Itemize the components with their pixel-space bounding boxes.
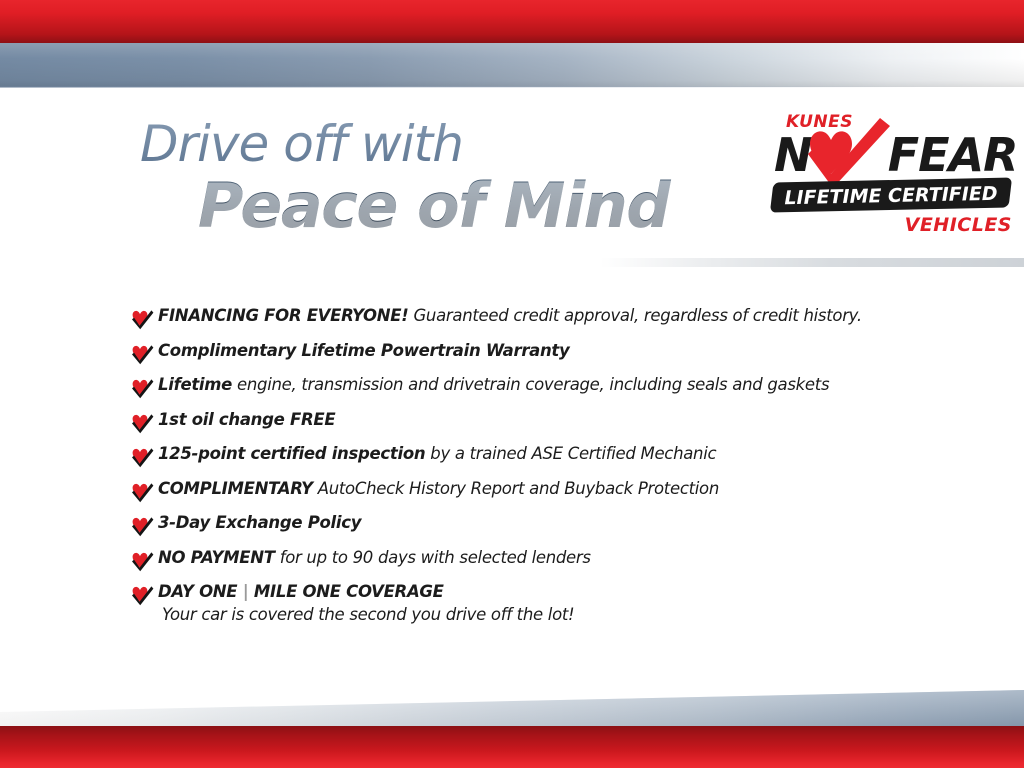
benefit-text-bold: DAY ONE xyxy=(158,582,237,601)
logo-word-fear: FEAR xyxy=(888,128,1018,182)
benefit-text: Lifetime engine, transmission and drivet… xyxy=(158,375,930,395)
benefit-item: COMPLIMENTARY AutoCheck History Report a… xyxy=(130,479,930,503)
heart-check-bullet-icon xyxy=(130,584,154,606)
benefit-text-normal: engine, transmission and drivetrain cove… xyxy=(232,375,829,394)
benefit-text-bold: NO PAYMENT xyxy=(158,548,275,567)
benefit-text-bold: 1st oil change FREE xyxy=(158,410,335,429)
heart-check-bullet-icon xyxy=(130,550,154,572)
headline-divider xyxy=(600,258,1024,267)
heart-check-icon xyxy=(800,116,892,190)
heart-check-bullet-icon xyxy=(130,343,154,365)
logo-vehicles-text: VEHICLES xyxy=(905,214,1012,236)
benefit-item: Complimentary Lifetime Powertrain Warran… xyxy=(130,341,930,365)
headline-line-2: Peace of Mind xyxy=(198,173,760,240)
benefit-text-bold: Complimentary Lifetime Powertrain Warran… xyxy=(158,341,569,360)
benefit-text-normal: AutoCheck History Report and Buyback Pro… xyxy=(313,479,719,498)
heart-check-bullet-icon xyxy=(130,377,154,399)
benefit-subtext: Your car is covered the second you drive… xyxy=(162,605,930,625)
benefit-text: FINANCING FOR EVERYONE! Guaranteed credi… xyxy=(158,306,930,326)
benefit-text: NO PAYMENT for up to 90 days with select… xyxy=(158,548,930,568)
heart-check-bullet-icon xyxy=(130,515,154,537)
top-slate-shading xyxy=(0,43,1024,87)
heart-check-bullet-icon xyxy=(130,446,154,468)
benefit-item: 1st oil change FREE xyxy=(130,410,930,434)
heart-check-bullet-icon xyxy=(130,412,154,434)
top-banner xyxy=(0,0,1024,90)
top-red-bar xyxy=(0,0,1024,43)
benefit-text-separator: | xyxy=(237,582,254,601)
benefit-text-bold: Lifetime xyxy=(158,375,232,394)
benefit-text-bold: 3-Day Exchange Policy xyxy=(158,513,361,532)
benefit-text-normal: by a trained ASE Certified Mechanic xyxy=(425,444,716,463)
benefit-text-normal: for up to 90 days with selected lenders xyxy=(275,548,591,567)
benefit-item: FINANCING FOR EVERYONE! Guaranteed credi… xyxy=(130,306,930,330)
benefit-text: Complimentary Lifetime Powertrain Warran… xyxy=(158,341,930,361)
benefit-text: 1st oil change FREE xyxy=(158,410,930,430)
bottom-banner xyxy=(0,690,1024,768)
benefits-list: FINANCING FOR EVERYONE! Guaranteed credi… xyxy=(130,306,930,636)
benefit-text: DAY ONE | MILE ONE COVERAGEYour car is c… xyxy=(158,582,930,625)
benefit-item: 125-point certified inspection by a trai… xyxy=(130,444,930,468)
headline-line-1: Drive off with xyxy=(140,118,760,171)
benefit-text: 3-Day Exchange Policy xyxy=(158,513,930,533)
top-banner-hairline xyxy=(0,86,1024,88)
logo-certified-banner-text: LIFETIME CERTIFIED xyxy=(772,179,1011,214)
bottom-red-bar xyxy=(0,726,1024,768)
benefit-text-bold-secondary: MILE ONE COVERAGE xyxy=(254,582,444,601)
benefit-item: Lifetime engine, transmission and drivet… xyxy=(130,375,930,399)
heart-check-bullet-icon xyxy=(130,481,154,503)
heart-check-bullet-icon xyxy=(130,308,154,330)
benefit-text-normal: Guaranteed credit approval, regardless o… xyxy=(409,306,862,325)
benefit-item: NO PAYMENT for up to 90 days with select… xyxy=(130,548,930,572)
headline-block: Drive off with Peace of Mind xyxy=(140,118,760,239)
benefit-text-bold: 125-point certified inspection xyxy=(158,444,425,463)
benefit-text-bold: FINANCING FOR EVERYONE! xyxy=(158,306,409,325)
kunes-no-fear-logo: KUNES NOOFEAR LIFETIME CERTIFIED VEHICLE… xyxy=(772,108,1016,250)
logo-nofear-group: NOOFEAR xyxy=(774,128,1018,184)
benefit-item: DAY ONE | MILE ONE COVERAGEYour car is c… xyxy=(130,582,930,625)
benefit-text: 125-point certified inspection by a trai… xyxy=(158,444,930,464)
bottom-slate-shading xyxy=(0,690,1024,728)
benefit-item: 3-Day Exchange Policy xyxy=(130,513,930,537)
benefit-text: COMPLIMENTARY AutoCheck History Report a… xyxy=(158,479,930,499)
benefit-text-bold: COMPLIMENTARY xyxy=(158,479,313,498)
